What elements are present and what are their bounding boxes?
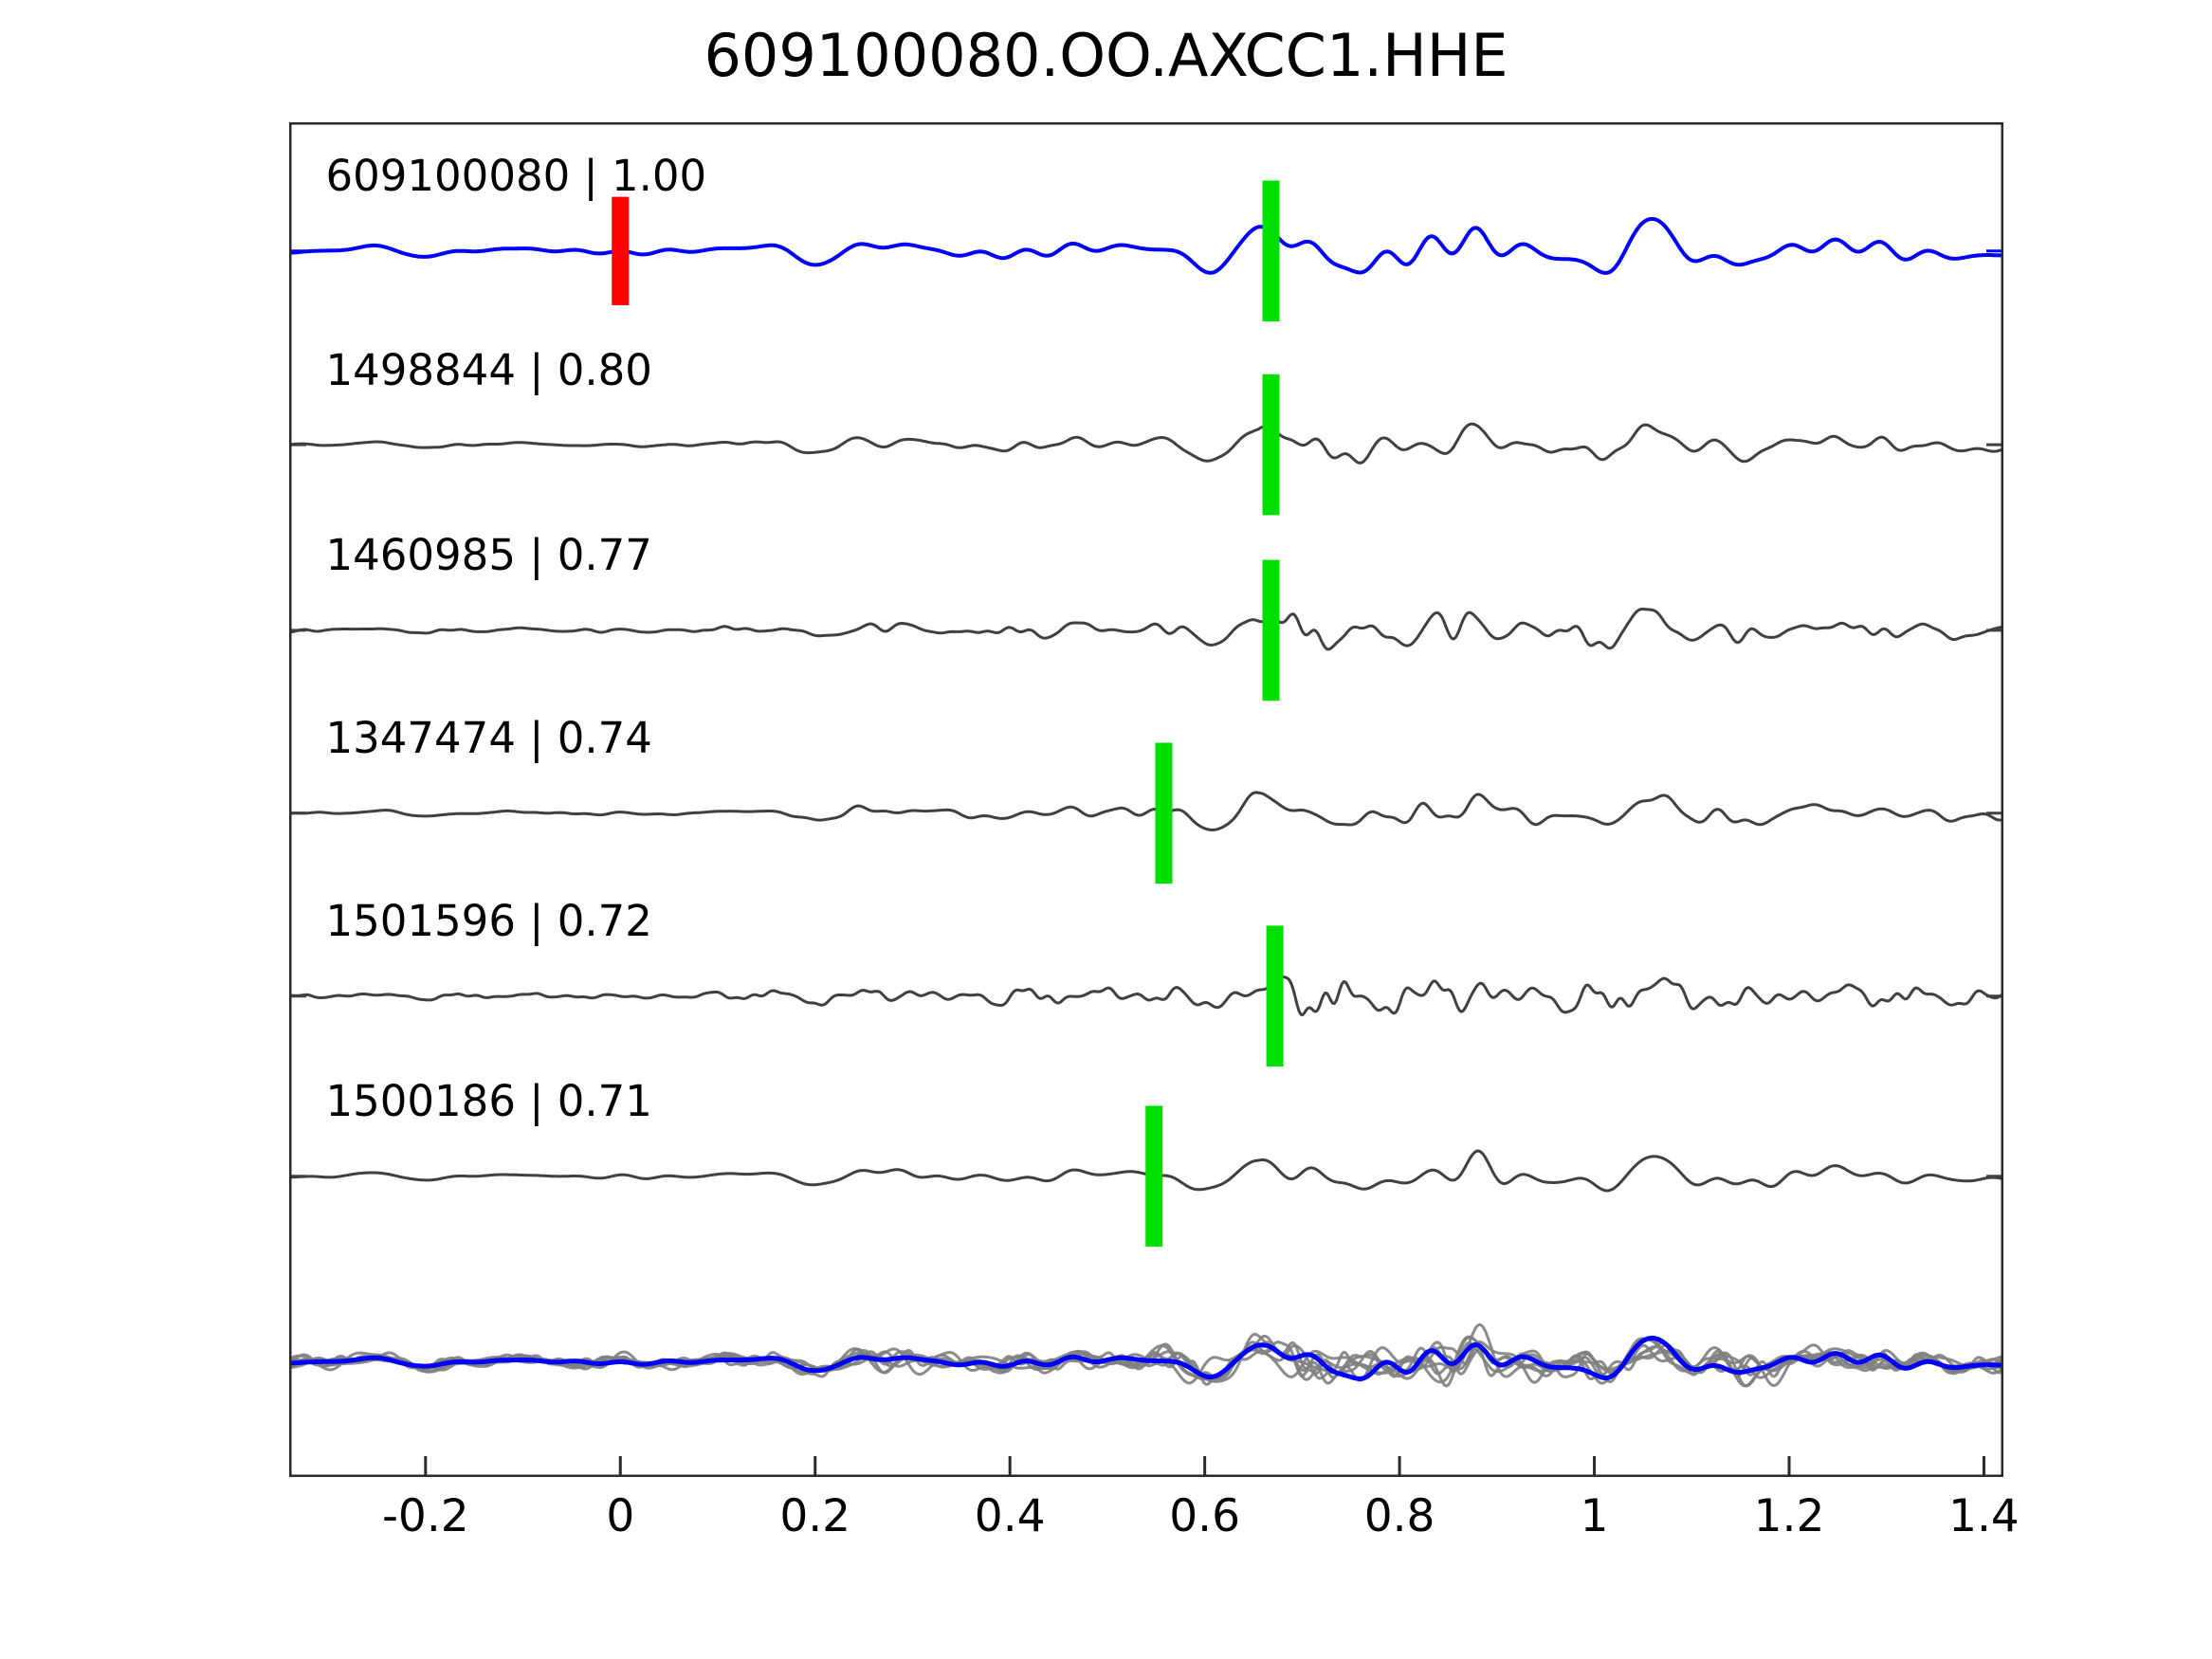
waveform-trace-1501596 [289,976,2003,1015]
markers-group [612,180,1283,1247]
arrival-marker-1500186 [1145,1105,1162,1247]
trace-label-1460985: 1460985 | 0.77 [326,530,652,580]
axis-ticks [426,1456,1984,1477]
waveform-trace-1347474 [289,793,2003,830]
x-axis-tick-labels: -0.200.20.40.60.811.21.4 [0,1490,2212,1557]
arrival-marker-1460985 [1262,560,1279,702]
x-tick-label: 1.2 [1754,1490,1825,1542]
arrival-marker-609100080 [1262,180,1279,321]
waveform-trace-609100080 [289,219,2003,273]
seismogram-figure: 609100080.OO.AXCC1.HHE 609100080 | 1.001… [0,0,2212,1659]
x-tick-label: 0.6 [1169,1490,1240,1542]
trace-label-609100080: 609100080 | 1.00 [326,151,707,201]
x-tick-label: 0 [606,1490,634,1542]
x-tick-label: 1 [1581,1490,1609,1542]
waveform-trace-1498844 [289,424,2003,463]
trace-label-1347474: 1347474 | 0.74 [326,713,652,763]
page-title: 609100080.OO.AXCC1.HHE [0,21,2212,90]
x-tick-label: -0.2 [382,1490,469,1542]
x-tick-label: 0.2 [779,1490,850,1542]
template-pick-marker [612,197,629,305]
x-tick-label: 0.4 [975,1490,1046,1542]
arrival-marker-1347474 [1155,742,1172,884]
trace-label-1500186: 1500186 | 0.71 [326,1076,652,1126]
trace-label-1498844: 1498844 | 0.80 [326,345,652,395]
arrival-marker-1501596 [1267,925,1284,1066]
arrival-marker-1498844 [1262,374,1279,516]
trace-label-1501596: 1501596 | 0.72 [326,896,652,946]
plot-area: 609100080 | 1.001498844 | 0.801460985 | … [289,122,2003,1477]
waveform-canvas [289,122,2003,1477]
x-tick-label: 1.4 [1948,1490,2020,1542]
waveform-trace-1460985 [289,610,2003,649]
x-tick-label: 0.8 [1364,1490,1435,1542]
plot-frame [290,123,2002,1476]
